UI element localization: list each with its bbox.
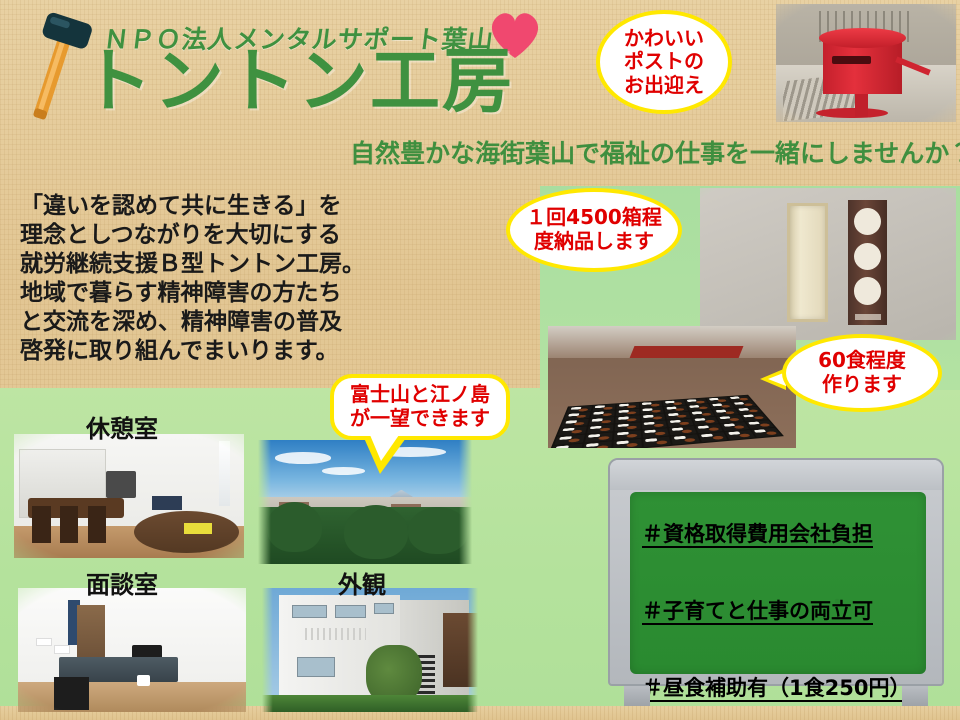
lead-line-1: 「違いを認めて共に生きる」を: [20, 192, 380, 221]
bubble-view-tail-inner: [370, 435, 399, 461]
bubble-boxes-line-1: １回4500箱程: [526, 206, 662, 230]
speech-bubble-meals: 60食程度 作ります: [782, 334, 942, 412]
bento-cell: [751, 428, 781, 437]
lead-paragraph: 「違いを認めて共に生きる」を 理念としつながりを大切にする 就労継続支援Ｂ型トン…: [20, 192, 380, 366]
bento-cell: [698, 432, 727, 442]
header-tagline: 自然豊かな海街葉山で福祉の仕事を一緒にしませんか？: [350, 134, 960, 170]
blackboard-frame: ＃資格取得費用会社負担 ＃子育てと仕事の両立可 ＃昼食補助有（1食250円）: [608, 458, 944, 686]
speech-bubble-postbox: かわいい ポストの お出迎え: [596, 10, 732, 114]
caption-break-room: 休憩室: [86, 409, 158, 444]
blackboard-leg-right: [902, 686, 928, 706]
bubble-meals-line-2: 作ります: [822, 373, 902, 397]
blackboard-item-2: ＃子育てと仕事の両立可: [642, 548, 926, 625]
photo-postbox: [776, 4, 956, 122]
photo-break-room: [14, 434, 244, 558]
bubble-postbox-line-3: お出迎え: [624, 74, 704, 98]
speech-bubble-view: 富士山と江ノ島 が一望できます: [330, 374, 510, 440]
bubble-view-line-1: 富士山と江ノ島: [350, 383, 490, 407]
lead-line-3: 就労継続支援Ｂ型トントン工房。: [20, 250, 380, 279]
bubble-postbox-line-2: ポストの: [624, 50, 704, 74]
caption-meeting-room: 面談室: [86, 565, 158, 600]
speech-bubble-boxes: １回4500箱程 度納品します: [506, 188, 682, 272]
blackboard-top-rail: [610, 460, 942, 490]
bento-cell: [643, 436, 671, 446]
brand-title: トントン工房: [82, 44, 514, 118]
blackboard-leg-left: [624, 686, 650, 706]
bubble-view-line-2: が一望できます: [350, 407, 490, 431]
lead-line-4: 地域で暮らす精神障害の方たち: [20, 279, 380, 308]
bubble-meals-line-1: 60食程度: [818, 349, 906, 373]
bento-cell: [613, 439, 641, 448]
caption-exterior: 外観: [338, 565, 386, 600]
lead-line-2: 理念としつながりを大切にする: [20, 221, 380, 250]
lead-line-6: 啓発に取り組んでまいります。: [20, 337, 380, 366]
lead-line-5: と交流を深め、精神障害の普及: [20, 308, 380, 337]
photo-meeting-room: [18, 588, 246, 712]
photo-bento-boxes: [548, 326, 796, 448]
blackboard-item-1: ＃資格取得費用会社負担: [642, 506, 926, 548]
bubble-boxes-line-2: 度納品します: [534, 230, 654, 254]
bubble-postbox-line-1: かわいい: [624, 27, 704, 51]
blackboard-surface: ＃資格取得費用会社負担 ＃子育てと仕事の両立可 ＃昼食補助有（1食250円）: [630, 492, 926, 674]
poster-root: ＮＰＯ法人メンタルサポート葉山 トントン工房 自然豊かな海街葉山で福祉の仕事を一…: [0, 0, 960, 720]
photo-product-boxes: [700, 188, 956, 340]
bento-cell: [582, 441, 612, 448]
bento-cell: [671, 434, 700, 444]
blackboard: ＃資格取得費用会社負担 ＃子育てと仕事の両立可 ＃昼食補助有（1食250円）: [600, 458, 952, 706]
bento-cell: [725, 430, 755, 440]
photo-exterior: [262, 588, 478, 712]
blackboard-item-3: ＃昼食補助有（1食250円）: [642, 625, 926, 702]
